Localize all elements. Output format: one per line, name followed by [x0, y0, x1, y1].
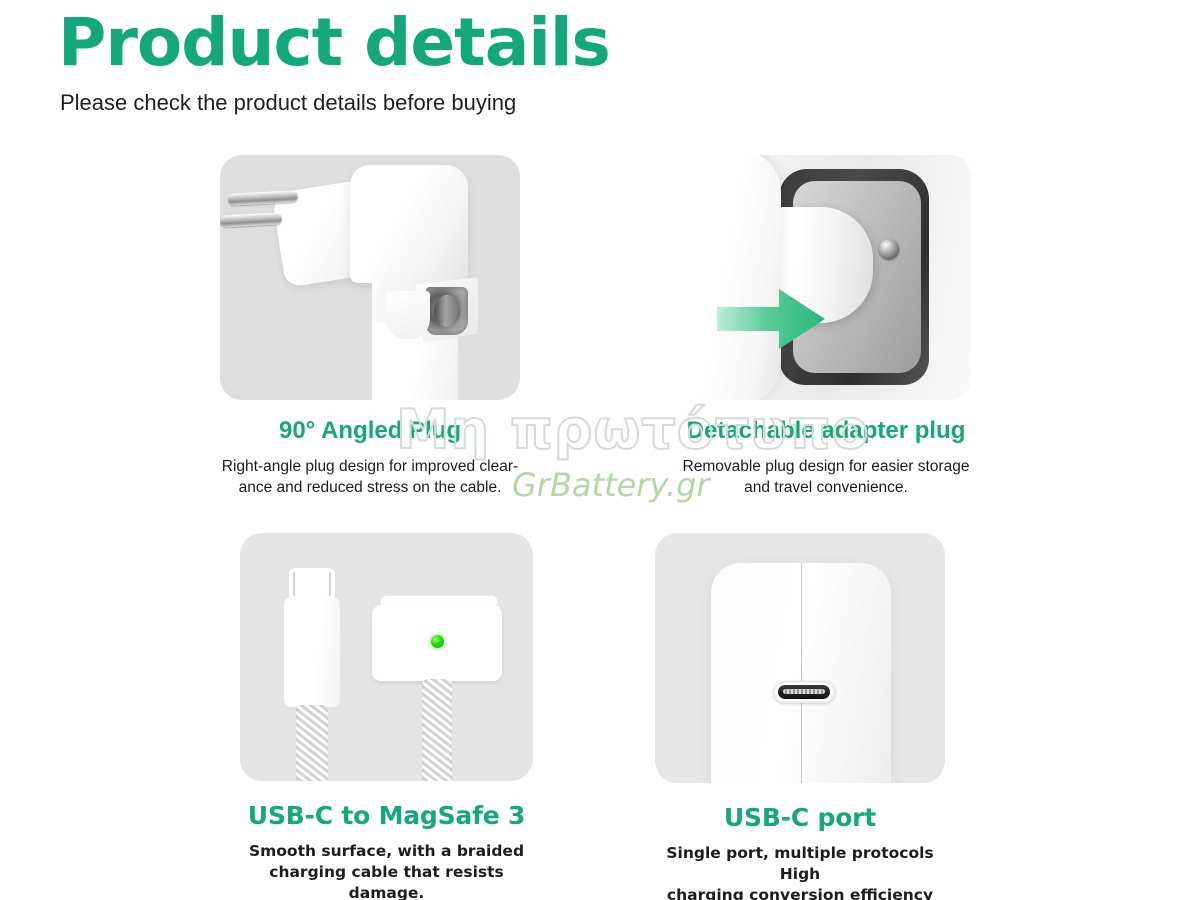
- page-subtitle: Please check the product details before …: [60, 90, 516, 116]
- watermark-brand-text: GrBattery.gr: [512, 466, 710, 504]
- braided-cable-right-shape: [422, 679, 452, 781]
- feature-desc-line: and travel convenience.: [681, 478, 971, 499]
- feature-desc-line: Smooth surface, with a braided: [240, 841, 533, 862]
- feature-title-usbc-to-magsafe: USB-C to MagSafe 3: [240, 801, 533, 831]
- feature-card-usbc-port: USB-C port Single port, multiple protoco…: [655, 533, 945, 900]
- feature-card-usbc-to-magsafe: USB-C to MagSafe 3 Smooth surface, with …: [240, 533, 533, 900]
- product-details-page: Product details Please check the product…: [0, 0, 1200, 900]
- usbc-port-tongue: [783, 689, 825, 694]
- feature-desc-line: Single port, multiple protocols High: [655, 843, 945, 885]
- page-title: Product details: [58, 6, 610, 80]
- plug-pin-bottom-icon: [220, 212, 282, 227]
- feature-desc-line: Removable plug design for easier storage: [681, 457, 971, 478]
- metal-ring-shape: [434, 295, 460, 327]
- plug-socket-shape: [386, 291, 430, 339]
- feature-desc-line: Right-angle plug design for improved cle…: [220, 457, 520, 478]
- feature-card-detachable-adapter: Detachable adapter plug Removable plug d…: [681, 155, 971, 499]
- feature-title-usbc-port: USB-C port: [655, 803, 945, 833]
- feature-image-usbc-port: [655, 533, 945, 783]
- usbc-connector-body-shape: [284, 597, 340, 707]
- feature-desc-usbc-to-magsafe: Smooth surface, with a braided charging …: [240, 841, 533, 900]
- arrow-right-icon: [717, 287, 825, 351]
- usbc-connector-tip-shape: [288, 567, 336, 601]
- feature-desc-line: charging cable that resists damage.: [240, 862, 533, 900]
- feature-image-angled-plug: [220, 155, 520, 400]
- feature-desc-line: charging conversion efficiency Safe and: [655, 885, 945, 900]
- screw-icon: [879, 239, 899, 259]
- charger-seam-line: [801, 563, 802, 783]
- feature-image-usbc-to-magsafe: [240, 533, 533, 781]
- feature-card-angled-plug: 90° Angled Plug Right-angle plug design …: [220, 155, 520, 499]
- feature-desc-angled-plug: Right-angle plug design for improved cle…: [220, 457, 520, 499]
- charger-body-shape: [681, 155, 781, 400]
- feature-desc-usbc-port: Single port, multiple protocols High cha…: [655, 843, 945, 900]
- braided-cable-left-shape: [296, 705, 328, 781]
- led-indicator-icon: [431, 635, 444, 648]
- feature-desc-detachable-adapter: Removable plug design for easier storage…: [681, 457, 971, 499]
- adapter-head-shape: [350, 165, 468, 283]
- feature-desc-line: ance and reduced stress on the cable.: [220, 478, 520, 499]
- feature-image-detachable-adapter: [681, 155, 971, 400]
- feature-title-angled-plug: 90° Angled Plug: [220, 417, 520, 446]
- feature-title-detachable-adapter: Detachable adapter plug: [681, 417, 971, 446]
